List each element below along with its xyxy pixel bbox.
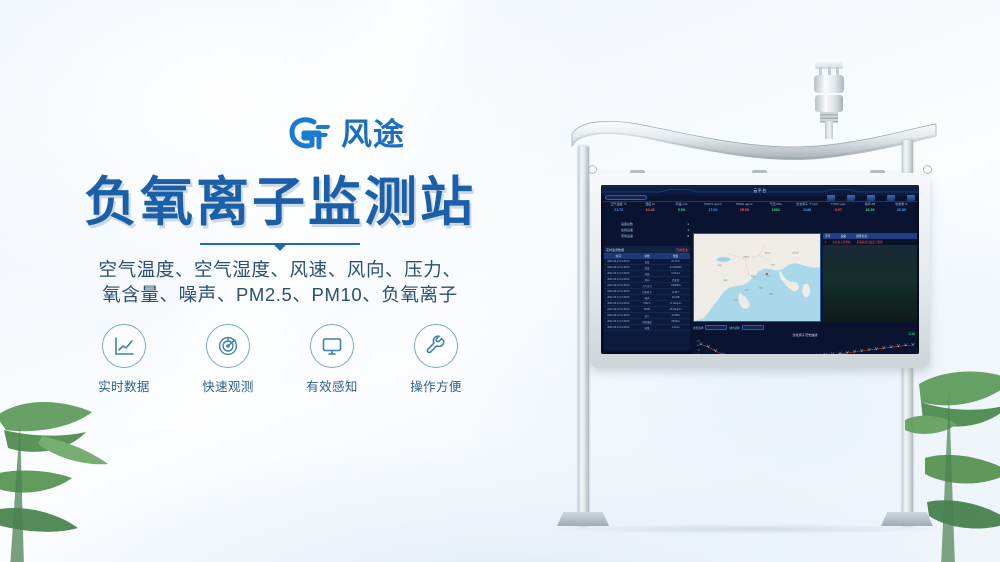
table-cell: 2021-09-13 11:32:00: [604, 314, 633, 317]
alarm-column-header: 报警信息: [856, 234, 867, 238]
stat-label: 离线设备: [621, 233, 633, 239]
history-line-chart[interactable]: 负氧离子 历史曲线 1148 00:0001:0002:0003:0004:00…: [693, 332, 917, 354]
marketing-text-panel: 风途 负氧离子监测站 空气温度、空气湿度、风速、风向、压力、 氧含量、噪声、PM…: [0, 0, 560, 562]
map-filter-select[interactable]: [742, 325, 764, 330]
stat-row: 离线设备 0: [621, 233, 689, 239]
table-cell: 湿度: [633, 266, 662, 270]
display-enclosure: 云平台 空气温度 ℃ 21.72 湿度 % 64.40 风速 m/s 0.00 …: [590, 173, 930, 368]
ground-shadow: [550, 524, 950, 534]
metric-value: 0.00: [666, 207, 697, 214]
dashboard-system-tag[interactable]: [605, 195, 647, 200]
page-title: 负氧离子监测站: [0, 160, 560, 236]
divider-triangle-icon: [273, 244, 287, 251]
metric-value: 1148: [791, 207, 822, 214]
table-cell: 2021-09-13 11:32:00: [604, 272, 633, 275]
chart-plot-area: 00:0001:0002:0003:0004:0005:0006:0007:00…: [693, 338, 917, 354]
metric-card-row: 空气温度 ℃ 21.72 湿度 % 64.40 风速 m/s 0.00 PM2.…: [603, 201, 917, 217]
table-row[interactable]: 2021-09-13 11:32:00雨量0.0mm: [604, 325, 690, 331]
table-cell: 2021-09-13 11:32:00: [604, 278, 633, 281]
table-cell: 64.40%RH: [661, 266, 690, 269]
stat-value: 0: [687, 233, 689, 239]
table-cell: 0.00m/s: [661, 272, 690, 275]
map-filter-select[interactable]: [705, 325, 727, 330]
table-cell: 2021-09-13 11:32:00: [604, 320, 633, 323]
metric-value: 17.00: [697, 207, 728, 214]
brand-logo: 风途: [288, 116, 405, 152]
dashboard-screen[interactable]: 云平台 空气温度 ℃ 21.72 湿度 % 64.40 风速 m/s 0.00 …: [601, 185, 919, 354]
feature-label: 快速观测: [192, 376, 264, 395]
subtitle-line-2: 氧含量、噪声、PM2.5、PM10、负氧离子: [0, 282, 560, 307]
table-cell: 2021-09-13 11:32:00: [604, 290, 633, 293]
table-column-header: 时间: [604, 254, 633, 258]
table-cell: PM2.5: [633, 302, 662, 305]
metric-card[interactable]: PM10 ug/m³ 25.00: [729, 201, 760, 217]
radar-scan-icon: [206, 324, 250, 368]
table-cell: 西北风: [661, 278, 690, 282]
metric-card[interactable]: 气压 hPa 1002: [760, 201, 791, 217]
site-photo: [823, 245, 917, 322]
alarm-column-header: 设备: [841, 234, 847, 238]
table-cell: 风向: [633, 278, 662, 282]
fengtu-wind-g-logo-icon: [288, 116, 334, 152]
table-cell: 0.0mm: [661, 326, 690, 329]
table-cell: 2021-09-13 11:32:00: [604, 308, 633, 311]
table-column-header: 参数: [633, 254, 662, 258]
chart-current-value: 1148: [908, 332, 915, 336]
svg-text:四川: 四川: [745, 289, 749, 292]
metric-value: 64.40: [634, 207, 665, 214]
sensor-body-upper: [814, 75, 844, 93]
title-divider: [200, 243, 360, 245]
table-cell: 风速: [633, 272, 662, 276]
table-cell: 8452lux: [661, 320, 690, 323]
table-body: 2021-09-13 11:32:00温度21.72℃2021-09-13 11…: [604, 259, 690, 331]
table-cell: 1148个: [661, 290, 690, 294]
table-column-header: 数值: [661, 254, 690, 258]
table-cell: 温度: [633, 260, 662, 264]
metric-value: 43.20: [854, 207, 885, 214]
table-title-bar: 实时监测数据 查看更多: [604, 246, 690, 253]
table-cell: 43.2dB: [661, 296, 690, 299]
metric-card[interactable]: 负氧离子 个/cm³ 1148: [791, 201, 822, 217]
table-title: 实时监测数据: [606, 248, 624, 252]
sensor-body-lower: [815, 95, 843, 112]
device-stats-block: 设备总数 1 在线设备 1 离线设备 0: [621, 221, 689, 239]
feature-list: 实时数据 快速观测 有效感知: [0, 324, 560, 395]
subtitle: 空气温度、空气湿度、风速、风向、压力、 氧含量、噪声、PM2.5、PM10、负氧…: [0, 257, 560, 307]
support-post-left: [578, 146, 589, 526]
table-cell: 25.00ug/m³: [661, 308, 690, 311]
realtime-data-table[interactable]: 实时监测数据 查看更多 时间参数数值 2021-09-13 11:32:00温度…: [604, 246, 690, 350]
wrench-icon: [414, 324, 458, 368]
alarm-cell: 负氧离子监测站: [832, 240, 850, 244]
table-cell: 2021-09-13 11:32:00: [604, 296, 633, 299]
feature-item-realtime-data[interactable]: 实时数据: [88, 324, 160, 395]
table-cell: 1002hPa: [661, 284, 690, 287]
feature-item-effective-sensing[interactable]: 有效感知: [296, 324, 368, 395]
map-filter-label: 城市选择: [729, 326, 739, 330]
metric-card[interactable]: 空气温度 ℃ 21.72: [603, 201, 634, 217]
svg-text:1400: 1400: [697, 341, 701, 343]
table-cell: 17.00ug/m³: [661, 302, 690, 305]
svg-text:840: 840: [697, 349, 700, 351]
feature-label: 操作方便: [400, 376, 472, 395]
table-cell: 2021-09-13 11:32:00: [604, 260, 633, 263]
monitoring-station-device: 云平台 空气温度 ℃ 21.72 湿度 % 64.40 风速 m/s 0.00 …: [540, 60, 960, 530]
metric-value: 0.07: [823, 207, 854, 214]
metric-value: 21.72: [603, 207, 634, 214]
cloud-platform-dashboard: 云平台 空气温度 ℃ 21.72 湿度 % 64.40 风速 m/s 0.00 …: [601, 185, 919, 354]
table-cell: 雨量: [633, 326, 662, 330]
table-cell: PM10: [633, 308, 662, 311]
table-cell: 负氧离子: [633, 290, 662, 294]
table-cell: 2021-09-13 11:32:00: [604, 302, 633, 305]
feature-label: 有效感知: [296, 376, 368, 395]
metric-value: 20.80: [886, 207, 917, 214]
table-cell: 2021-09-13 11:32:00: [604, 326, 633, 329]
brand-name: 风途: [341, 119, 405, 150]
subtitle-line-1: 空气温度、空气湿度、风速、风向、压力、: [0, 257, 560, 282]
map-filter-label: 省份选择: [693, 326, 703, 330]
table-cell: 21.72℃: [661, 260, 690, 263]
alarm-cell: 采集值超出设定上限值: [857, 240, 883, 244]
metric-card[interactable]: 湿度 % 64.40: [634, 201, 665, 217]
metric-value: 25.00: [729, 207, 760, 214]
feature-item-fast-observation[interactable]: 快速观测: [192, 324, 264, 395]
table-cell: 氧气: [633, 314, 662, 318]
metric-card[interactable]: 风速 m/s 0.00: [666, 201, 697, 217]
metric-card[interactable]: PM2.5 ug/m³ 17.00: [697, 201, 728, 217]
alarm-cell: 1: [825, 241, 826, 244]
svg-text:1120: 1120: [697, 345, 700, 347]
wave-canopy: [570, 112, 938, 160]
device-distribution-map[interactable]: 新疆内蒙古 黑龙江吉林 陕西山东 湖南四川 西藏福建 云南俄罗斯: [693, 233, 821, 322]
table-cell: 20.80%: [661, 314, 690, 317]
feature-item-easy-operation[interactable]: 操作方便: [400, 324, 472, 395]
alarm-column-header: 序号: [825, 234, 831, 238]
metric-card[interactable]: 噪声 dB 43.20: [854, 201, 885, 217]
table-cell: 2021-09-13 11:32:00: [604, 284, 633, 287]
line-chart-icon: [102, 324, 146, 368]
table-cell: 2021-09-13 11:32:00: [604, 266, 633, 269]
table-cell: 光照强度: [633, 320, 662, 324]
alarm-panel[interactable]: 序号设备报警信息 1负氧离子监测站采集值超出设定上限值: [823, 233, 917, 322]
table-more-link[interactable]: 查看更多: [676, 248, 688, 252]
metric-value: 1002: [760, 207, 791, 214]
metric-card[interactable]: TVOC ppm 0.07: [823, 201, 854, 217]
map-filter-controls[interactable]: 省份选择 城市选择: [693, 324, 821, 331]
table-cell: 噪声: [633, 296, 662, 300]
table-cell: 大气压力: [633, 284, 662, 288]
metric-card[interactable]: 氧含量 % 20.80: [886, 201, 917, 217]
monitor-icon: [310, 324, 354, 368]
feature-label: 实时数据: [88, 376, 160, 395]
